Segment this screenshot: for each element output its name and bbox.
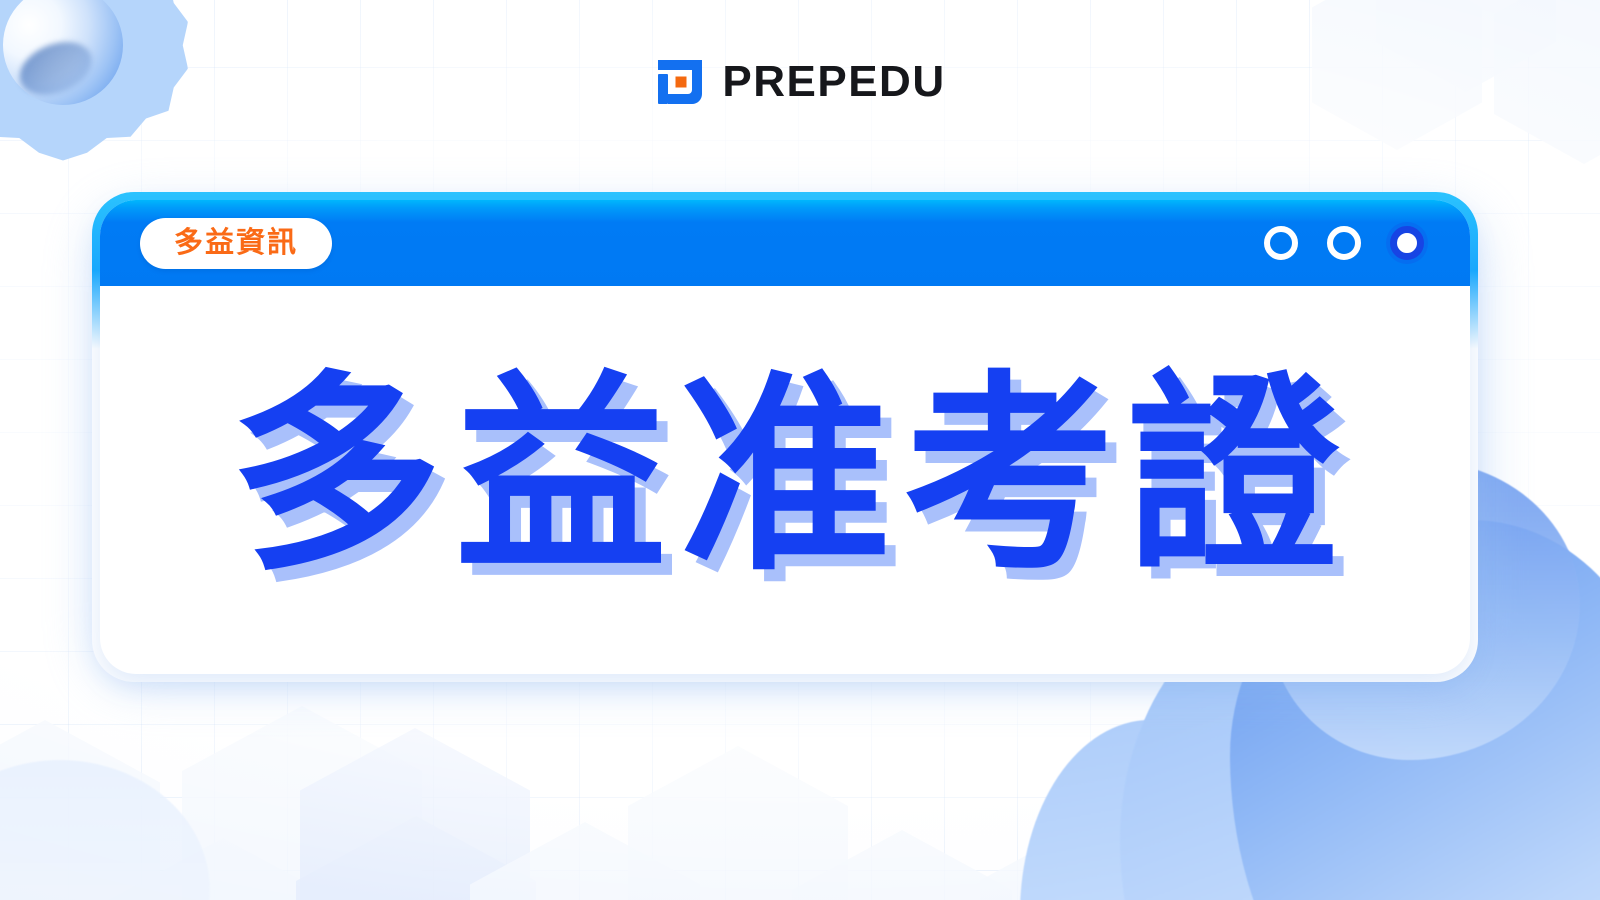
card-titlebar: 多益資訊 <box>100 200 1470 286</box>
window-control-minimize[interactable] <box>1264 226 1298 260</box>
window-control-close[interactable] <box>1390 226 1424 260</box>
prepedu-logo-mark <box>654 56 706 108</box>
brand-name: PREPEDU <box>722 60 945 104</box>
page-title: 多益准考證 <box>219 370 1351 582</box>
poster-canvas: PREPEDU 多益資訊 多益准考證 <box>0 0 1600 900</box>
card-body: 多益准考證 <box>100 286 1470 674</box>
card-frame: 多益資訊 多益准考證 <box>92 192 1478 682</box>
category-badge[interactable]: 多益資訊 <box>140 218 332 269</box>
window-controls <box>1264 226 1426 260</box>
window-control-maximize[interactable] <box>1327 226 1361 260</box>
brand-header: PREPEDU <box>0 56 1600 108</box>
card: 多益資訊 多益准考證 <box>100 200 1470 674</box>
